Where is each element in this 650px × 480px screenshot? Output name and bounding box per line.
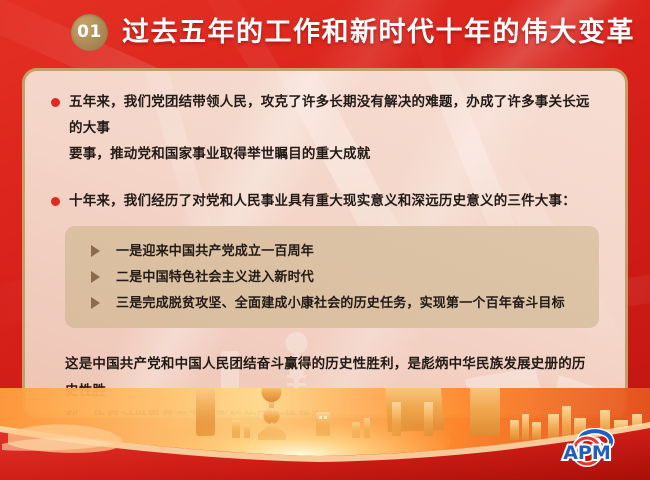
list-item-label: 三是完成脱贫攻坚、全面建成小康社会的历史任务，实现第一个百年奋斗目标 bbox=[116, 290, 565, 316]
bullet-item-1: 五年来，我们党团结带领人民，攻克了许多长期没有解决的难题，办成了许多事关长远的大… bbox=[47, 89, 603, 167]
apm-logo-label: APM bbox=[563, 442, 611, 464]
list-item: 二是中国特色社会主义进入新时代 bbox=[65, 264, 599, 290]
list-item-label: 一是迎来中国共产党成立一百周年 bbox=[116, 238, 314, 264]
page-title: 过去五年的工作和新时代十年的伟大变革 bbox=[122, 11, 635, 53]
bullet-item-2: 十年来，我们经历了对党和人民事业具有重大现实意义和深远历史意义的三件大事： bbox=[47, 188, 603, 214]
header-band: 01 过去五年的工作和新时代十年的伟大变革 bbox=[0, 0, 650, 63]
list-item: 三是完成脱贫攻坚、全面建成小康社会的历史任务，实现第一个百年奋斗目标 bbox=[65, 290, 599, 316]
bullet-dot-icon bbox=[51, 98, 60, 107]
list-item-label: 二是中国特色社会主义进入新时代 bbox=[116, 264, 314, 290]
slide-canvas: 01 过去五年的工作和新时代十年的伟大变革 bbox=[0, 0, 650, 480]
section-number-badge: 01 bbox=[71, 14, 108, 51]
spacer bbox=[47, 173, 603, 188]
sub-panel-list: 一是迎来中国共产党成立一百周年 二是中国特色社会主义进入新时代 三是完成脱贫攻坚… bbox=[65, 226, 599, 328]
bullet-text-block: 十年来，我们经历了对党和人民事业具有重大现实意义和深远历史意义的三件大事： bbox=[69, 188, 576, 214]
bullet-line: 五年来，我们党团结带领人民，攻克了许多长期没有解决的难题，办成了许多事关长远的大… bbox=[69, 89, 603, 141]
bullet-text-block: 五年来，我们党团结带领人民，攻克了许多长期没有解决的难题，办成了许多事关长远的大… bbox=[69, 89, 603, 167]
list-item: 一是迎来中国共产党成立一百周年 bbox=[65, 238, 599, 264]
bullet-line: 要事，推动党和国家事业取得举世瞩目的重大成就 bbox=[69, 141, 603, 167]
panel-content: 五年来，我们党团结带领人民，攻克了许多长期没有解决的难题，办成了许多事关长远的大… bbox=[25, 71, 625, 415]
bullet-dot-icon bbox=[51, 197, 60, 206]
apm-logo-icon: APM bbox=[550, 428, 624, 468]
footer-skyline-band: APM bbox=[0, 388, 650, 480]
triangle-arrow-icon bbox=[91, 271, 100, 283]
triangle-arrow-icon bbox=[91, 245, 100, 257]
triangle-arrow-icon bbox=[91, 297, 100, 309]
bullet-line: 十年来，我们经历了对党和人民事业具有重大现实意义和深远历史意义的三件大事： bbox=[69, 188, 576, 214]
section-number-label: 01 bbox=[77, 24, 102, 41]
content-panel: 五年来，我们党团结带领人民，攻克了许多长期没有解决的难题，办成了许多事关长远的大… bbox=[22, 68, 628, 418]
